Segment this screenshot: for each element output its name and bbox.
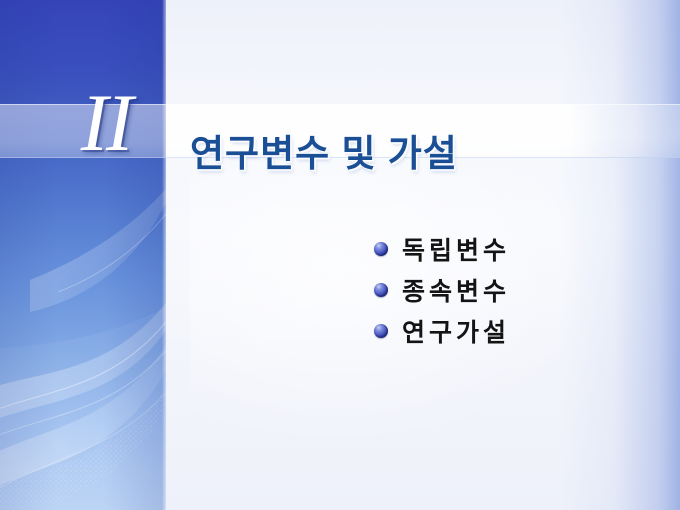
left-panel-edge-highlight	[162, 0, 166, 510]
presentation-slide: II 연구변수 및 가설 독립변수 종속변수 연구가설	[0, 0, 680, 510]
title-band-right-fade	[570, 104, 680, 158]
list-item: 종속변수	[374, 269, 510, 310]
page-title: 연구변수 및 가설	[190, 126, 458, 182]
list-item: 독립변수	[374, 228, 510, 269]
list-item-label: 종속변수	[402, 272, 510, 308]
blue-sphere-bullet-icon	[374, 242, 388, 256]
blue-sphere-bullet-icon	[374, 324, 388, 338]
background-right-gradient	[560, 0, 680, 510]
list-item: 연구가설	[374, 310, 510, 351]
blue-sphere-bullet-icon	[374, 283, 388, 297]
list-item-label: 연구가설	[402, 313, 510, 349]
list-item-label: 독립변수	[402, 231, 510, 267]
section-numeral: II	[58, 82, 154, 164]
bullet-list: 독립변수 종속변수 연구가설	[374, 228, 510, 351]
